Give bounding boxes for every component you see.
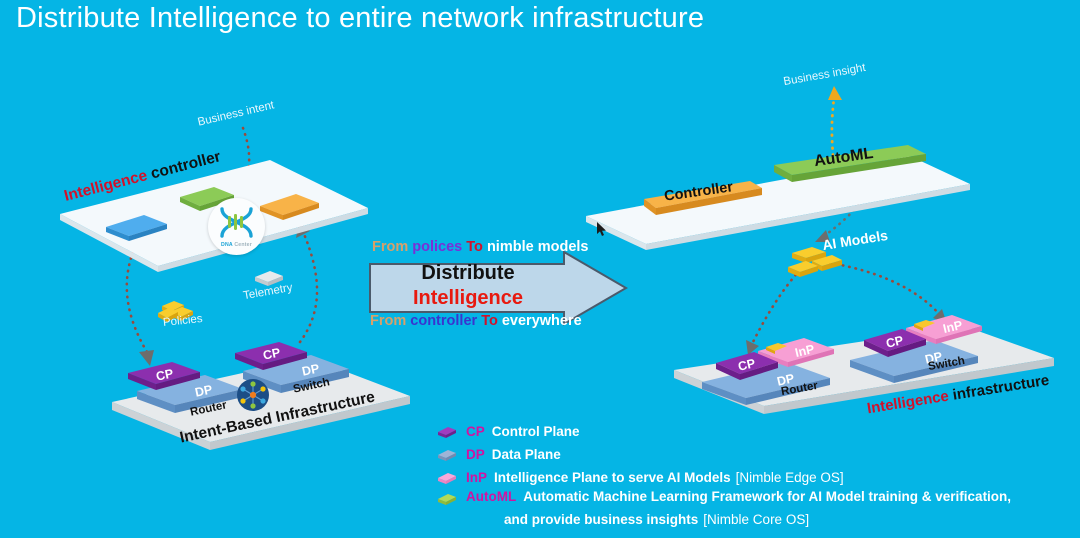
arrow-bottom-seg-3: everywhere	[502, 313, 582, 329]
legend-key-cp: CP	[466, 424, 485, 439]
telemetry-label: Telemetry	[242, 282, 293, 302]
arrow-top-seg-3: nimble models	[487, 239, 589, 255]
slide-canvas: Distribute Intelligence to entire networ…	[0, 0, 1080, 538]
arrow-top-seg-1: polices	[412, 239, 466, 255]
arrow-top-seg-0: From	[372, 239, 412, 255]
legend-key-inp: InP	[466, 470, 487, 485]
mouse-cursor	[597, 222, 609, 243]
inp-swatch-icon	[436, 471, 458, 485]
right-switch-cp-block: CP	[860, 325, 930, 355]
legend-key-dp: DP	[466, 447, 485, 462]
page-title: Distribute Intelligence to entire networ…	[16, 2, 704, 35]
arrow-bottom-seg-2: To	[481, 313, 502, 329]
legend-text-automl: Automatic Machine Learning Framework for…	[523, 489, 1011, 504]
legend-item-inp: InP Intelligence Plane to serve AI Model…	[436, 466, 1011, 489]
legend-item-cp: CP Control Plane	[436, 420, 1011, 443]
badge-text-dna: DNA	[221, 242, 233, 248]
legend-item-dp: DP Data Plane	[436, 443, 1011, 466]
legend-text-inp: Intelligence Plane to serve AI Models	[494, 470, 731, 485]
app-tile-blue	[102, 211, 172, 241]
arrow-bottom-seg-0: From	[370, 313, 410, 329]
right-controller-tile: Controller	[640, 177, 766, 219]
legend-text-cp: Control Plane	[492, 424, 580, 439]
right-automl-tile: AutoML	[770, 141, 930, 185]
arrow-bottom-seg-1: controller	[410, 313, 481, 329]
network-mesh-icon	[236, 378, 270, 412]
legend-continuation-automl: and provide business insights	[504, 512, 698, 527]
legend-key-automl: AutoML	[466, 489, 516, 504]
arrow-title-line2: Intelligence	[368, 287, 568, 310]
dna-center-badge: DNA Center	[208, 198, 265, 255]
arrow-top-line: From polices To nimble models	[372, 239, 588, 255]
arrow-title-line1: Distribute	[368, 262, 568, 285]
legend-item-automl-continuation: and provide business insights [Nimble Co…	[436, 509, 1011, 529]
legend: CP Control Plane DP Data Plane	[436, 420, 1011, 529]
arrow-bottom-line: From controller To everywhere	[370, 313, 582, 329]
cp-swatch-icon	[436, 425, 458, 439]
badge-text: DNA Center	[208, 242, 265, 248]
legend-text-dp: Data Plane	[492, 447, 561, 462]
legend-bracket-inp: [Nimble Edge OS]	[736, 470, 844, 485]
left-switch-cp-block: CP	[231, 339, 311, 369]
right-router-cp-block: CP	[712, 348, 782, 378]
legend-item-automl: AutoML Automatic Machine Learning Framew…	[436, 489, 1011, 509]
badge-text-center: Center	[234, 242, 252, 248]
left-business-intent-label: Business intent	[197, 99, 276, 128]
automl-swatch-icon	[436, 492, 458, 506]
app-tile-orange	[256, 190, 324, 220]
arrow-top-seg-2: To	[466, 239, 487, 255]
policies-label: Policies	[162, 313, 203, 329]
dp-swatch-icon	[436, 448, 458, 462]
left-router-cp-block: CP	[124, 359, 204, 389]
right-business-insight-label: Business insight	[783, 62, 867, 88]
legend-continuation-bracket-automl: [Nimble Core OS]	[703, 512, 809, 527]
